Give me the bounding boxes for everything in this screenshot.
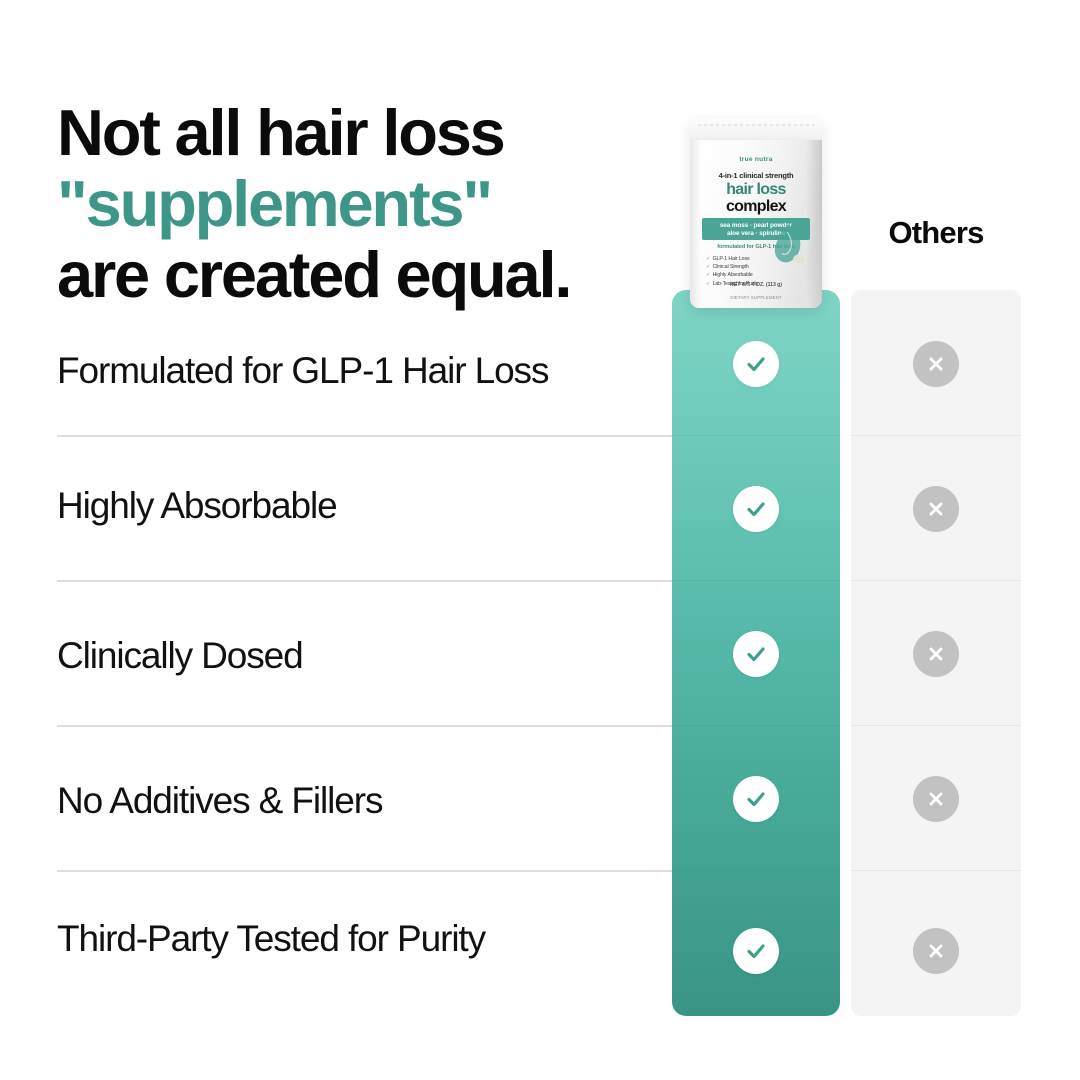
check-icon [733,631,779,677]
row-label: No Additives & Fillers [57,780,657,822]
package-bullet: Clinical Strength [706,264,758,270]
others-column-divider [851,870,1021,871]
package-footer: DIETARY SUPPLEMENT [690,295,822,300]
package-net-weight: NET WT. 4 OZ. (113 g) [690,282,822,288]
cross-icon [913,486,959,532]
row-divider [57,870,672,872]
package-bullet: GLP-1 Hair Loss [706,256,758,262]
cross-icon [913,928,959,974]
product-package-image: true nutra 4-in-1 clinical strength hair… [690,118,822,308]
seaweed-illustration [768,222,808,266]
others-column-divider [851,725,1021,726]
others-column-header: Others [851,215,1021,251]
row-divider [57,580,672,582]
row-divider [57,725,672,727]
cross-icon [913,341,959,387]
pouch-shading-right [806,140,822,308]
product-column-divider [672,725,840,726]
package-title-line-2: complex [690,198,822,215]
comparison-infographic: Not all hair loss "supplements" are crea… [0,0,1080,1080]
pouch-seal [690,118,822,140]
headline-line-1: Not all hair loss [57,97,697,168]
product-column-divider [672,435,840,436]
check-icon [733,776,779,822]
row-label: Formulated for GLP-1 Hair Loss [57,350,657,392]
cross-icon [913,631,959,677]
product-column-divider [672,870,840,871]
product-column-divider [672,580,840,581]
cross-icon [913,776,959,822]
others-column-divider [851,580,1021,581]
row-divider [57,435,672,437]
pouch-shading-left [690,140,701,308]
package-title-line-1: hair loss [690,181,822,198]
row-label: Clinically Dosed [57,635,657,677]
page-title: Not all hair loss "supplements" are crea… [57,97,697,310]
row-label: Third-Party Tested for Purity [57,918,657,960]
row-label: Highly Absorbable [57,485,657,527]
package-kicker: 4-in-1 clinical strength [690,171,822,180]
check-icon [733,928,779,974]
others-column-divider [851,435,1021,436]
package-bullet: Highly Absorbable [706,272,758,278]
headline-line-2-accent: "supplements" [57,168,697,239]
check-icon [733,486,779,532]
check-icon [733,341,779,387]
package-brand: true nutra [690,156,822,163]
headline-line-3: are created equal. [57,239,697,310]
